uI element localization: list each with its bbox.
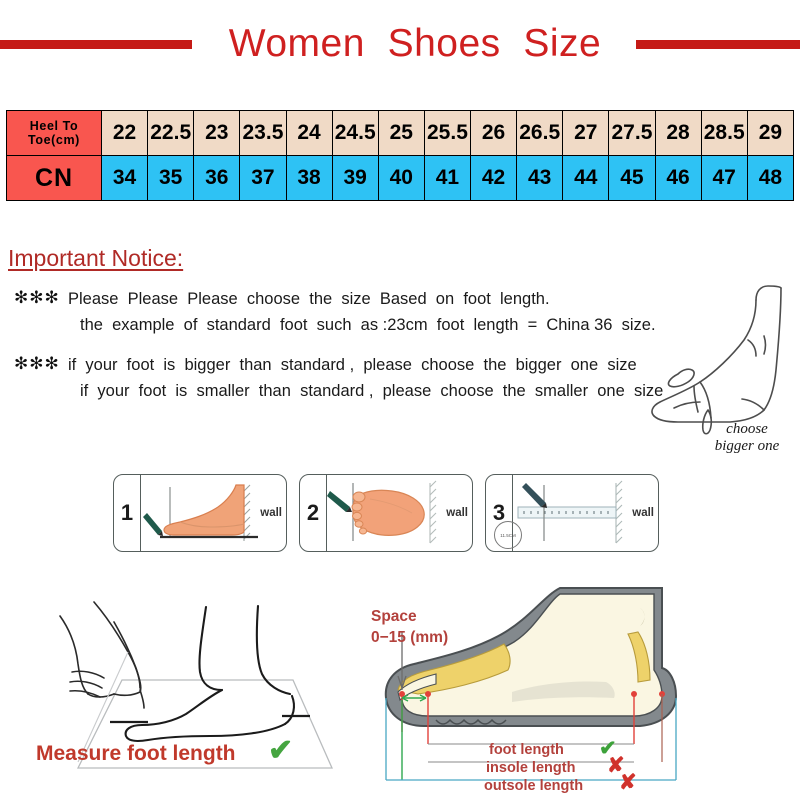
cell-cn: 34 <box>102 156 148 201</box>
red-cross-icon: ✘ <box>619 772 637 793</box>
step-panel-3: 3 <box>485 474 659 552</box>
cell-cm: 29 <box>747 111 793 156</box>
cell-cn: 46 <box>655 156 701 201</box>
outsole-length-label: outsole length <box>484 778 583 794</box>
cell-cm: 25.5 <box>424 111 470 156</box>
cell-cm: 27.5 <box>609 111 655 156</box>
cell-cn: 36 <box>194 156 240 201</box>
cell-cm: 22.5 <box>148 111 194 156</box>
important-notice-section: Important Notice: ✻✻✻ Please Please Plea… <box>8 245 708 418</box>
asterisks-icon: ✻✻✻ <box>14 354 60 374</box>
ruler-measure-badge: 11.5CM <box>494 521 522 549</box>
cell-cn: 37 <box>240 156 286 201</box>
notice-line: if your foot is smaller than standard , … <box>80 378 708 404</box>
cell-cm: 26 <box>471 111 517 156</box>
step-number: 2 <box>300 475 327 551</box>
insole-length-label: insole length <box>486 760 575 776</box>
row-label-cn: CN <box>7 156 102 201</box>
cell-cn: 39 <box>332 156 378 201</box>
cell-cm: 24.5 <box>332 111 378 156</box>
wall-label: wall <box>632 507 654 519</box>
title-rule-right <box>636 40 800 49</box>
cell-cn: 41 <box>424 156 470 201</box>
cell-cn: 48 <box>747 156 793 201</box>
table-row: Heel To Toe(cm) 22 22.5 23 23.5 24 24.5 … <box>7 111 794 156</box>
cell-cm: 23.5 <box>240 111 286 156</box>
cell-cn: 40 <box>378 156 424 201</box>
wall-label: wall <box>260 507 282 519</box>
measurement-steps: 1 <box>113 474 661 552</box>
size-conversion-table: Heel To Toe(cm) 22 22.5 23 23.5 24 24.5 … <box>6 110 794 201</box>
notice-line: if your foot is bigger than standard , p… <box>68 352 708 378</box>
choose-bigger-one-caption: choose bigger one <box>695 421 799 455</box>
cell-cn: 38 <box>286 156 332 201</box>
row-label-heel-to-toe: Heel To Toe(cm) <box>7 111 102 156</box>
cell-cn: 43 <box>517 156 563 201</box>
foot-length-label: foot length <box>489 742 564 758</box>
cell-cm: 24 <box>286 111 332 156</box>
page-header: Women Shoes Size <box>0 14 800 74</box>
notice-block-2: ✻✻✻ if your foot is bigger than standard… <box>8 352 708 404</box>
page-title: Women Shoes Size <box>196 14 634 74</box>
title-rule-left <box>0 40 192 49</box>
cell-cn: 44 <box>563 156 609 201</box>
notice-line: the example of standard foot such as :23… <box>80 312 708 338</box>
notice-line: Please Please Please choose the size Bas… <box>68 286 708 312</box>
step-panel-1: 1 <box>113 474 287 552</box>
cell-cn: 47 <box>701 156 747 201</box>
measure-foot-length-caption: Measure foot length <box>36 742 236 766</box>
notice-block-1: ✻✻✻ Please Please Please choose the size… <box>8 286 708 338</box>
cell-cn: 45 <box>609 156 655 201</box>
cell-cm: 26.5 <box>517 111 563 156</box>
green-check-icon: ✔ <box>268 736 293 766</box>
cell-cn: 42 <box>471 156 517 201</box>
cell-cm: 22 <box>102 111 148 156</box>
wall-label: wall <box>446 507 468 519</box>
step-number: 1 <box>114 475 141 551</box>
cell-cm: 27 <box>563 111 609 156</box>
step-panel-2: 2 <box>299 474 473 552</box>
cell-cm: 28 <box>655 111 701 156</box>
notice-heading: Important Notice: <box>8 245 708 272</box>
space-label: Space 0−15 (mm) <box>371 606 448 648</box>
cell-cm: 25 <box>378 111 424 156</box>
table-row: CN 34 35 36 37 38 39 40 41 42 43 44 45 4… <box>7 156 794 201</box>
cell-cm: 28.5 <box>701 111 747 156</box>
size-chart-page: Women Shoes Size Heel To Toe(cm) 22 22.5… <box>0 0 800 800</box>
asterisks-icon: ✻✻✻ <box>14 288 60 308</box>
cell-cm: 23 <box>194 111 240 156</box>
cell-cn: 35 <box>148 156 194 201</box>
